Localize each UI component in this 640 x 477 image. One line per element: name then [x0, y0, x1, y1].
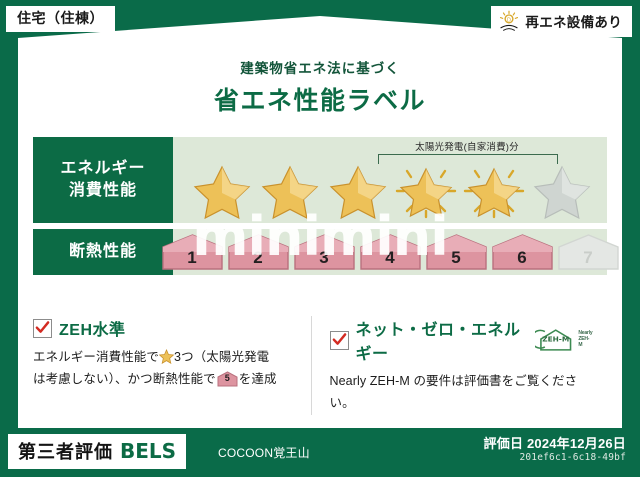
- star-rating: [173, 161, 607, 219]
- zeh-standard-body: エネルギー消費性能で3つ（太陽光発電は考慮しない）、かつ断熱性能で5を達成: [33, 347, 297, 391]
- bels-jp-text: 第三者評価: [18, 438, 113, 464]
- label-main-title: 省エネ性能ラベル: [0, 81, 640, 117]
- insulation-grade-5: 5: [425, 233, 488, 271]
- zeh-m-logo: ZEH-M Nearly ZEH-M: [535, 327, 593, 353]
- star-icon-1: [189, 161, 255, 219]
- label-title-block: 建築物省エネ法に基づく 省エネ性能ラベル: [0, 57, 640, 117]
- zeh-standard-checkbox[interactable]: [33, 319, 52, 338]
- insulation-grade-6-value: 6: [491, 248, 554, 268]
- insulation-grade-5-value: 5: [425, 248, 488, 268]
- zeh-standard-card: ZEH水準 エネルギー消費性能で3つ（太陽光発電は考慮しない）、かつ断熱性能で5…: [33, 316, 311, 415]
- bels-en-text: BELS: [120, 439, 176, 463]
- insulation-grade-3-value: 3: [293, 248, 356, 268]
- zeh-body-part2: 3つ（太陽光発電: [174, 350, 269, 364]
- property-name: COCOON覚王山: [218, 444, 310, 461]
- net-zero-energy-title: ネット・ゼロ・エネルギー: [356, 316, 524, 364]
- zeh-standard-header: ZEH水準: [33, 316, 297, 340]
- net-zero-energy-body: Nearly ZEH-M の要件は評価書をご覧ください。: [330, 371, 594, 415]
- evaluation-id: 201ef6c1-6c18-49bf: [519, 452, 626, 463]
- zeh-m-logo-caption: Nearly ZEH-M: [578, 331, 593, 348]
- star-icon-inline: [159, 349, 174, 364]
- insulation-grade-inline-value: 5: [217, 371, 238, 387]
- insulation-grade-2-value: 2: [227, 248, 290, 268]
- star-icon-6-empty: [529, 161, 595, 219]
- zeh-body-part4: を達成: [239, 372, 277, 386]
- zeh-m-caption-line2: ZEH-M: [578, 336, 589, 348]
- insulation-label-line1: 断熱性能: [69, 241, 137, 263]
- insulation-grade-1: 1: [161, 233, 224, 271]
- insulation-grade-3: 3: [293, 233, 356, 271]
- zeh-body-part3: は考慮しない）、かつ断熱性能で: [33, 372, 216, 386]
- net-zero-energy-card: ネット・ゼロ・エネルギー ZEH-M Nearly ZEH-M Nearly Z…: [311, 316, 608, 415]
- star-icon-3: [325, 161, 391, 219]
- energy-performance-label: エネルギー 消費性能: [33, 137, 173, 223]
- building-type-text: 住宅（住棟）: [17, 10, 104, 26]
- insulation-grade-7-empty: 7: [557, 233, 620, 271]
- svg-text:ZEH-M: ZEH-M: [542, 334, 569, 343]
- solar-annotation-text: 太陽光発電(自家消費)分: [376, 139, 558, 153]
- insulation-grade-scale: 1 2 3: [173, 229, 607, 275]
- insulation-grade-4: 4: [359, 233, 422, 271]
- renewable-badge-text: 再エネ設備あり: [525, 11, 622, 31]
- sun-icon: D: [498, 10, 520, 32]
- building-type-badge: 住宅（住棟）: [6, 6, 115, 32]
- metrics-section: エネルギー 消費性能 太陽光発電(自家消費)分: [33, 137, 607, 281]
- evaluation-date: 評価日 2024年12月26日: [484, 433, 626, 452]
- energy-performance-rating: 太陽光発電(自家消費)分: [173, 137, 607, 223]
- certification-cards: ZEH水準 エネルギー消費性能で3つ（太陽光発電は考慮しない）、かつ断熱性能で5…: [33, 316, 607, 415]
- renewable-equipment-badge: D 再エネ設備あり: [491, 6, 632, 37]
- zeh-standard-title: ZEH水準: [59, 316, 126, 340]
- svg-text:D: D: [507, 17, 511, 23]
- zeh-body-part1: エネルギー消費性能で: [33, 350, 159, 364]
- net-zero-energy-header: ネット・ゼロ・エネルギー ZEH-M Nearly ZEH-M: [330, 316, 594, 364]
- insulation-grade-7-value: 7: [557, 248, 620, 268]
- energy-label-line1: エネルギー: [60, 158, 145, 180]
- star-icon-2: [257, 161, 323, 219]
- bels-certification-badge: 第三者評価 BELS: [8, 434, 186, 469]
- energy-performance-row: エネルギー 消費性能 太陽光発電(自家消費)分: [33, 137, 607, 223]
- energy-performance-label: 住宅（住棟） D 再エネ設備あり 建築物省エネ法に基づく 省エネ性能ラベル: [0, 0, 640, 477]
- insulation-grade-2: 2: [227, 233, 290, 271]
- star-icon-5-solar: [461, 161, 527, 219]
- net-zero-energy-checkbox[interactable]: [330, 331, 349, 350]
- insulation-grade-6: 6: [491, 233, 554, 271]
- label-footer: 第三者評価 BELS COCOON覚王山 評価日 2024年12月26日 201…: [0, 428, 640, 477]
- label-subtitle: 建築物省エネ法に基づく: [0, 57, 640, 77]
- insulation-performance-label: 断熱性能: [33, 229, 173, 275]
- star-icon-4-solar: [393, 161, 459, 219]
- insulation-grade-1-value: 1: [161, 248, 224, 268]
- insulation-grade-4-value: 4: [359, 248, 422, 268]
- energy-label-line2: 消費性能: [69, 180, 137, 202]
- insulation-performance-row: 断熱性能 1: [33, 229, 607, 275]
- insulation-grade-inline-icon: 5: [217, 371, 238, 387]
- insulation-performance-rating: 1 2 3: [173, 229, 607, 275]
